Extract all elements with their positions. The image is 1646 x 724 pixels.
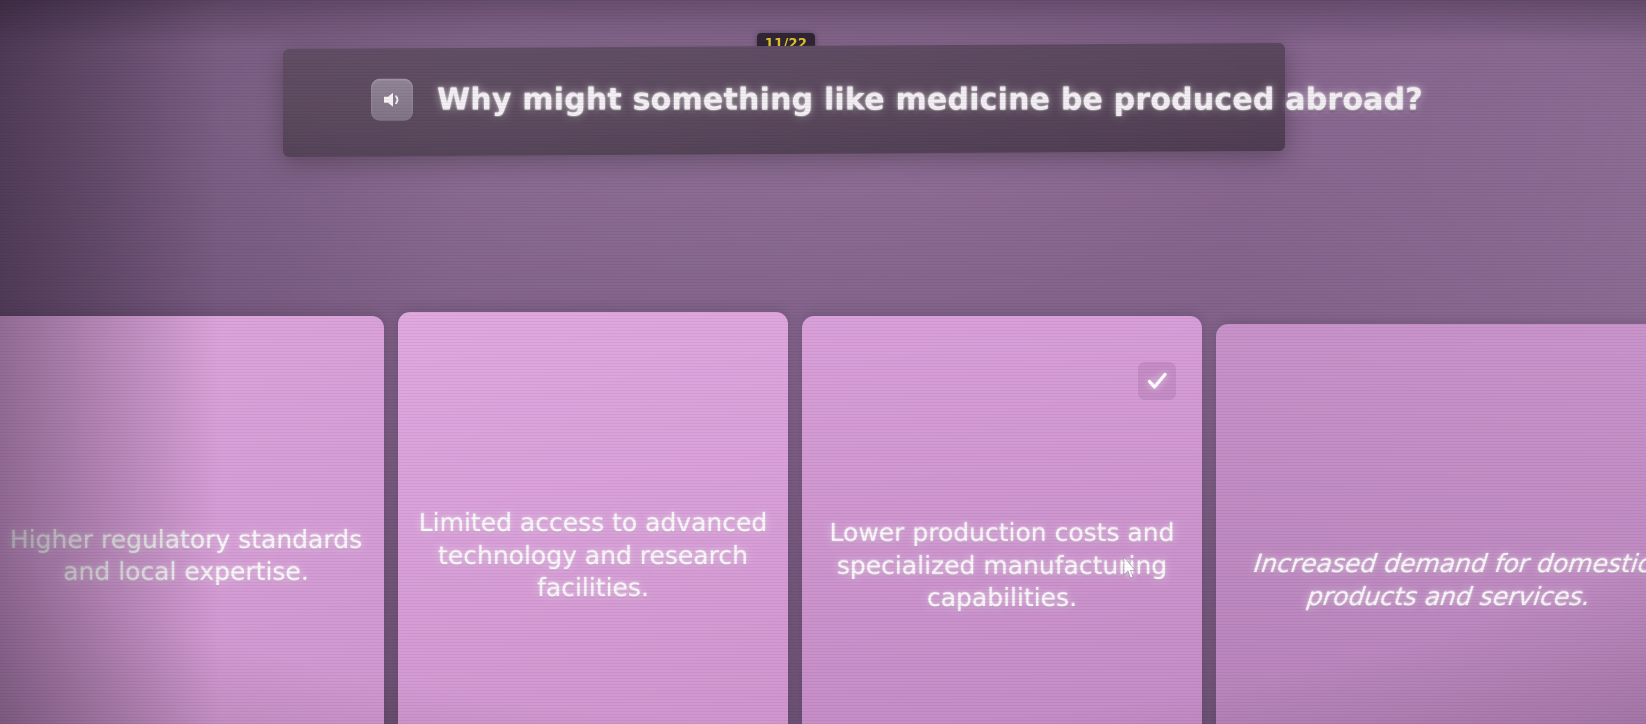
answer-card-3-label: Increased demand for domestic products a… <box>1228 548 1646 613</box>
quiz-screen: 11/22 Why might something like medicine … <box>0 0 1646 724</box>
answer-card-3[interactable]: Increased demand for domestic products a… <box>1216 324 1646 724</box>
question-bar: Why might something like medicine be pro… <box>283 43 1285 157</box>
check-icon <box>1146 371 1168 391</box>
cursor-pointer-icon <box>1122 556 1136 582</box>
answer-card-1[interactable]: Limited access to advanced technology an… <box>398 312 788 724</box>
answer-card-1-label: Limited access to advanced technology an… <box>414 507 772 605</box>
answer-card-row: Higher regulatory standards and local ex… <box>0 310 1646 724</box>
answer-card-0[interactable]: Higher regulatory standards and local ex… <box>0 316 384 724</box>
answer-selected-badge <box>1138 362 1176 400</box>
speaker-button[interactable] <box>371 79 413 121</box>
answer-card-2[interactable]: Lower production costs and specialized m… <box>802 316 1202 724</box>
speaker-icon <box>381 90 403 110</box>
answer-card-0-label: Higher regulatory standards and local ex… <box>4 524 368 589</box>
question-text: Why might something like medicine be pro… <box>437 82 1423 117</box>
